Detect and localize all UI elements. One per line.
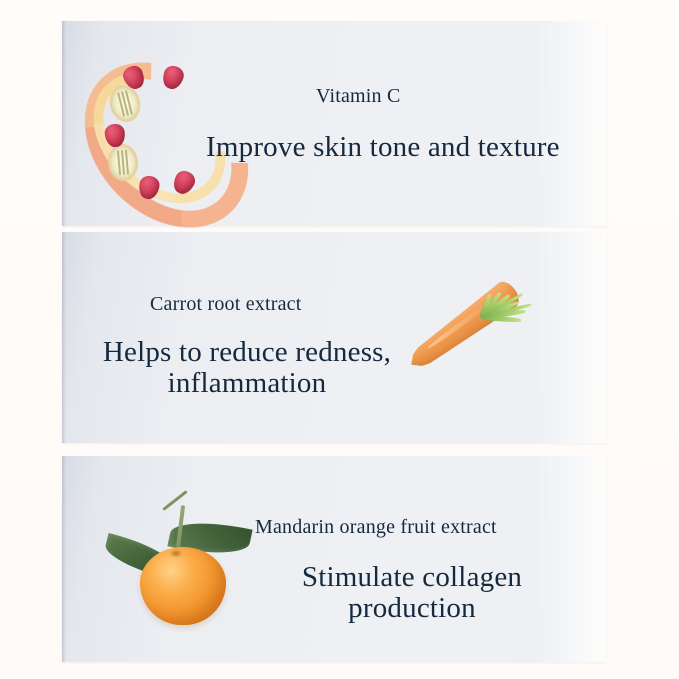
carrot-image xyxy=(385,258,555,418)
letter-c-made-of-fruit-image xyxy=(97,52,202,204)
carrot-leaves-shape xyxy=(481,262,557,324)
mandarin-orange-image xyxy=(104,485,264,635)
ingredient-benefit-vitamin-c: Improve skin tone and texture xyxy=(206,132,560,163)
ingredient-name-carrot-root-extract: Carrot root extract xyxy=(150,293,302,316)
benefit-line-2: inflammation xyxy=(168,367,327,399)
benefit-line-2: production xyxy=(348,592,476,624)
ingredient-name-mandarin-orange-fruit-extract: Mandarin orange fruit extract xyxy=(255,516,497,539)
orange-fruit-shape xyxy=(140,547,226,625)
benefit-line-1: Helps to reduce redness, xyxy=(103,336,391,368)
ingredient-benefit-carrot-root-extract: Helps to reduce redness, inflammation xyxy=(92,337,402,398)
ingredient-benefit-mandarin-orange-fruit-extract: Stimulate collagen production xyxy=(290,562,534,623)
benefit-line-1: Stimulate collagen xyxy=(302,561,522,593)
ingredient-name-vitamin-c: Vitamin C xyxy=(316,85,401,108)
ingredient-benefits-infographic: Vitamin C Improve skin tone and texture … xyxy=(0,0,679,679)
